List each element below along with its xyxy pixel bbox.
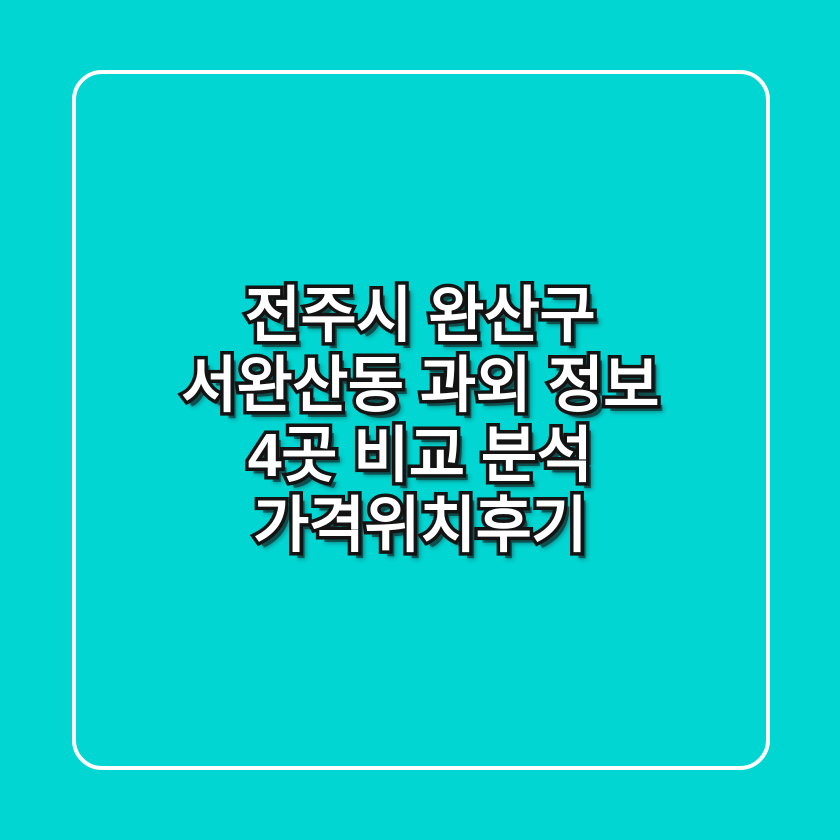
title-line-3: 4곳 비교 분석 xyxy=(0,420,840,490)
title-line-4: 가격위치후기 xyxy=(0,490,840,560)
thumbnail-card: 전주시 완산구 서완산동 과외 정보 4곳 비교 분석 가격위치후기 xyxy=(0,0,840,840)
title-block: 전주시 완산구 서완산동 과외 정보 4곳 비교 분석 가격위치후기 xyxy=(0,0,840,840)
title-line-1: 전주시 완산구 xyxy=(0,280,840,350)
title-line-2: 서완산동 과외 정보 xyxy=(0,350,840,420)
